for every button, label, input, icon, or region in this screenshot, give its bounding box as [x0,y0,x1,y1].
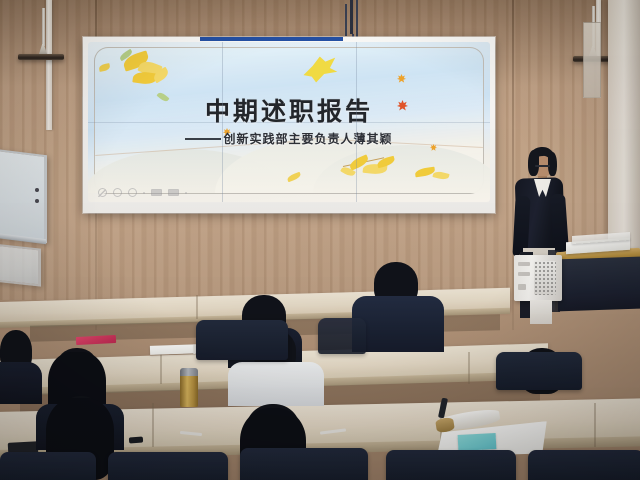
hanging-light-bar-left [18,54,64,60]
ceiling-mic-cable-3 [345,4,347,36]
teal-booklet [458,433,497,451]
laser-icon[interactable] [128,188,137,197]
pa-speaker-knob [518,262,530,266]
presenter-glasses [535,165,550,167]
pen-icon[interactable] [98,189,106,197]
pa-speaker-grille [534,261,556,295]
pa-speaker-knob [518,284,526,290]
thermos-cap [180,368,198,376]
more-icon[interactable] [185,192,187,194]
table-seam [196,295,198,319]
chair [318,318,366,354]
slide-subtitle: 创新实践部主要负责人薄其颖 [223,130,392,147]
chair [196,320,288,360]
slide-icon[interactable] [151,189,162,196]
chair [386,450,516,480]
ceiling-mic-cable-2 [356,0,358,40]
pointer-icon[interactable] [113,188,122,197]
classroom-photo-scene: 中期述职报告 创新实践部主要负责人薄其颖 [0,0,640,480]
videowall-seam-horizontal [88,122,490,123]
subtitle-rule [185,138,221,140]
person-torso [0,362,42,404]
wall-conduit-left [46,0,52,130]
light-rod-left [42,8,45,46]
slide-subtitle-row: 创新实践部主要负责人薄其颖 [95,130,483,147]
pa-speaker-knob [518,272,530,276]
slide-maple-leaf [397,74,406,83]
whiteboard [0,149,47,244]
slide-toolbar[interactable] [98,188,187,197]
chair [496,352,582,390]
mobile-phone [129,437,143,444]
slide-leaf [98,63,110,72]
podium-body [558,257,640,312]
chair [108,452,228,480]
thermos-flask [180,373,198,407]
right-wall-notice [583,22,601,98]
table-seam [468,352,470,384]
presenter-hair-side [528,150,539,176]
table-seam [594,403,596,447]
whiteboard-lower [0,243,41,286]
chair [528,450,640,480]
chair [0,452,96,480]
projection-screen[interactable]: 中期述职报告 创新实践部主要负责人薄其颖 [88,42,490,202]
whiteboard-marker [35,188,39,192]
slide-card: 中期述职报告 创新实践部主要负责人薄其颖 [94,47,484,194]
whiteboard-marker [35,199,39,203]
chair [240,448,368,480]
slide-leaf-large [300,53,340,85]
projector-mount-rail [200,37,343,41]
grid-icon[interactable] [168,189,179,196]
table-seam [160,352,162,384]
divider-icon [143,192,145,194]
right-wall-panel [608,0,640,250]
presenter-hair-side-2 [548,152,557,176]
podium-cloth [530,300,552,324]
table-seam [152,403,154,447]
ceiling-mic-cable [350,0,353,34]
person-torso [228,362,324,406]
